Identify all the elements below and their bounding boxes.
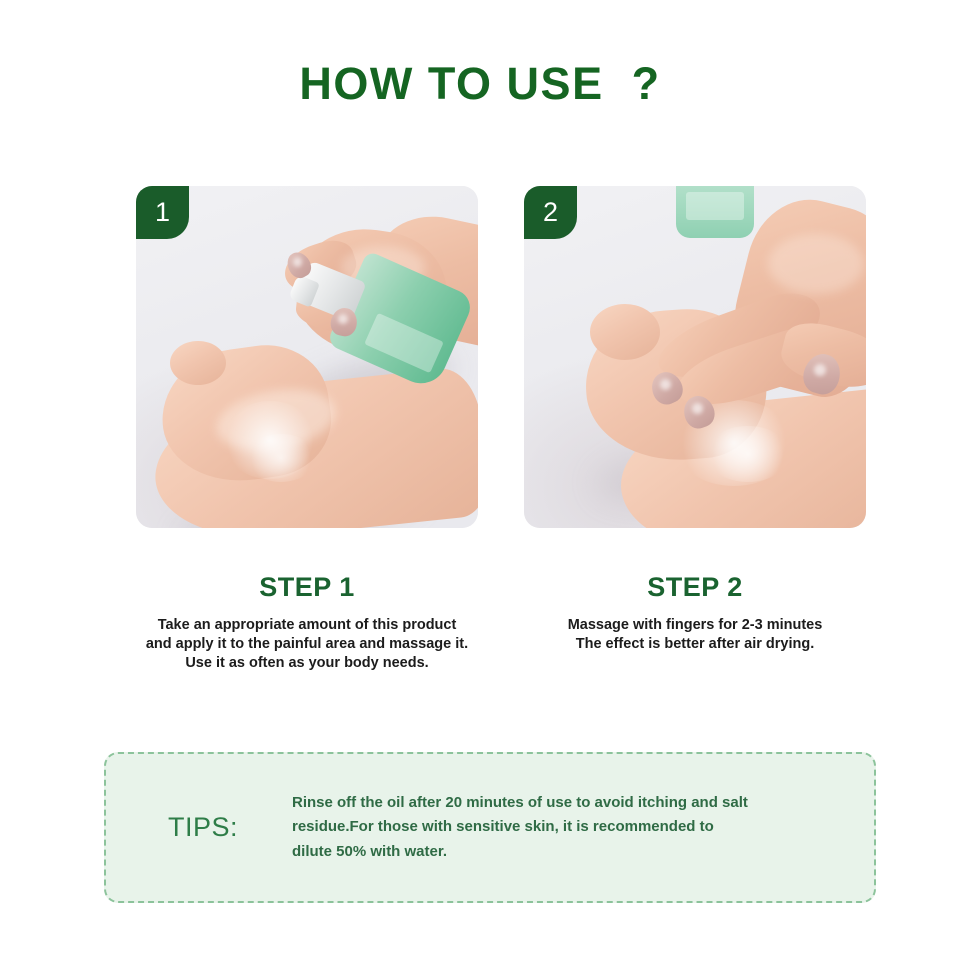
knuckle [590,304,660,360]
step-card-2: 2 STEP 2 Massage with fingers for 2-3 mi… [524,186,866,654]
step-2-photo: 2 [524,186,866,528]
nail-sheen [338,314,348,324]
wet-sheen [246,434,316,482]
step-1-title: STEP 1 [136,572,478,603]
nail-sheen [814,364,826,376]
hand-highlight [768,234,864,294]
tips-label: TIPS: [168,812,288,843]
nail-sheen [660,379,671,390]
step-2-description: Massage with fingers for 2-3 minutes The… [524,616,866,654]
step-1-badge: 1 [136,186,189,239]
tips-text: Rinse off the oil after 20 minutes of us… [292,791,748,864]
wet-sheen [706,426,790,482]
how-to-use-page: HOW TO USE ? [0,0,960,954]
step-2-badge: 2 [524,186,577,239]
tips-box: TIPS: Rinse off the oil after 20 minutes… [104,752,876,903]
bottle-label [686,192,744,220]
knuckle-bump [170,341,226,385]
page-title: HOW TO USE ? [0,58,960,110]
step-1-description: Take an appropriate amount of this produ… [136,616,478,673]
nail-sheen [692,403,703,414]
step-card-1: 1 STEP 1 Take an appropriate amount of t… [136,186,478,673]
nail-sheen [293,257,302,267]
steps-row: 1 STEP 1 Take an appropriate amount of t… [0,186,960,686]
step-1-photo: 1 [136,186,478,528]
step-2-title: STEP 2 [524,572,866,603]
